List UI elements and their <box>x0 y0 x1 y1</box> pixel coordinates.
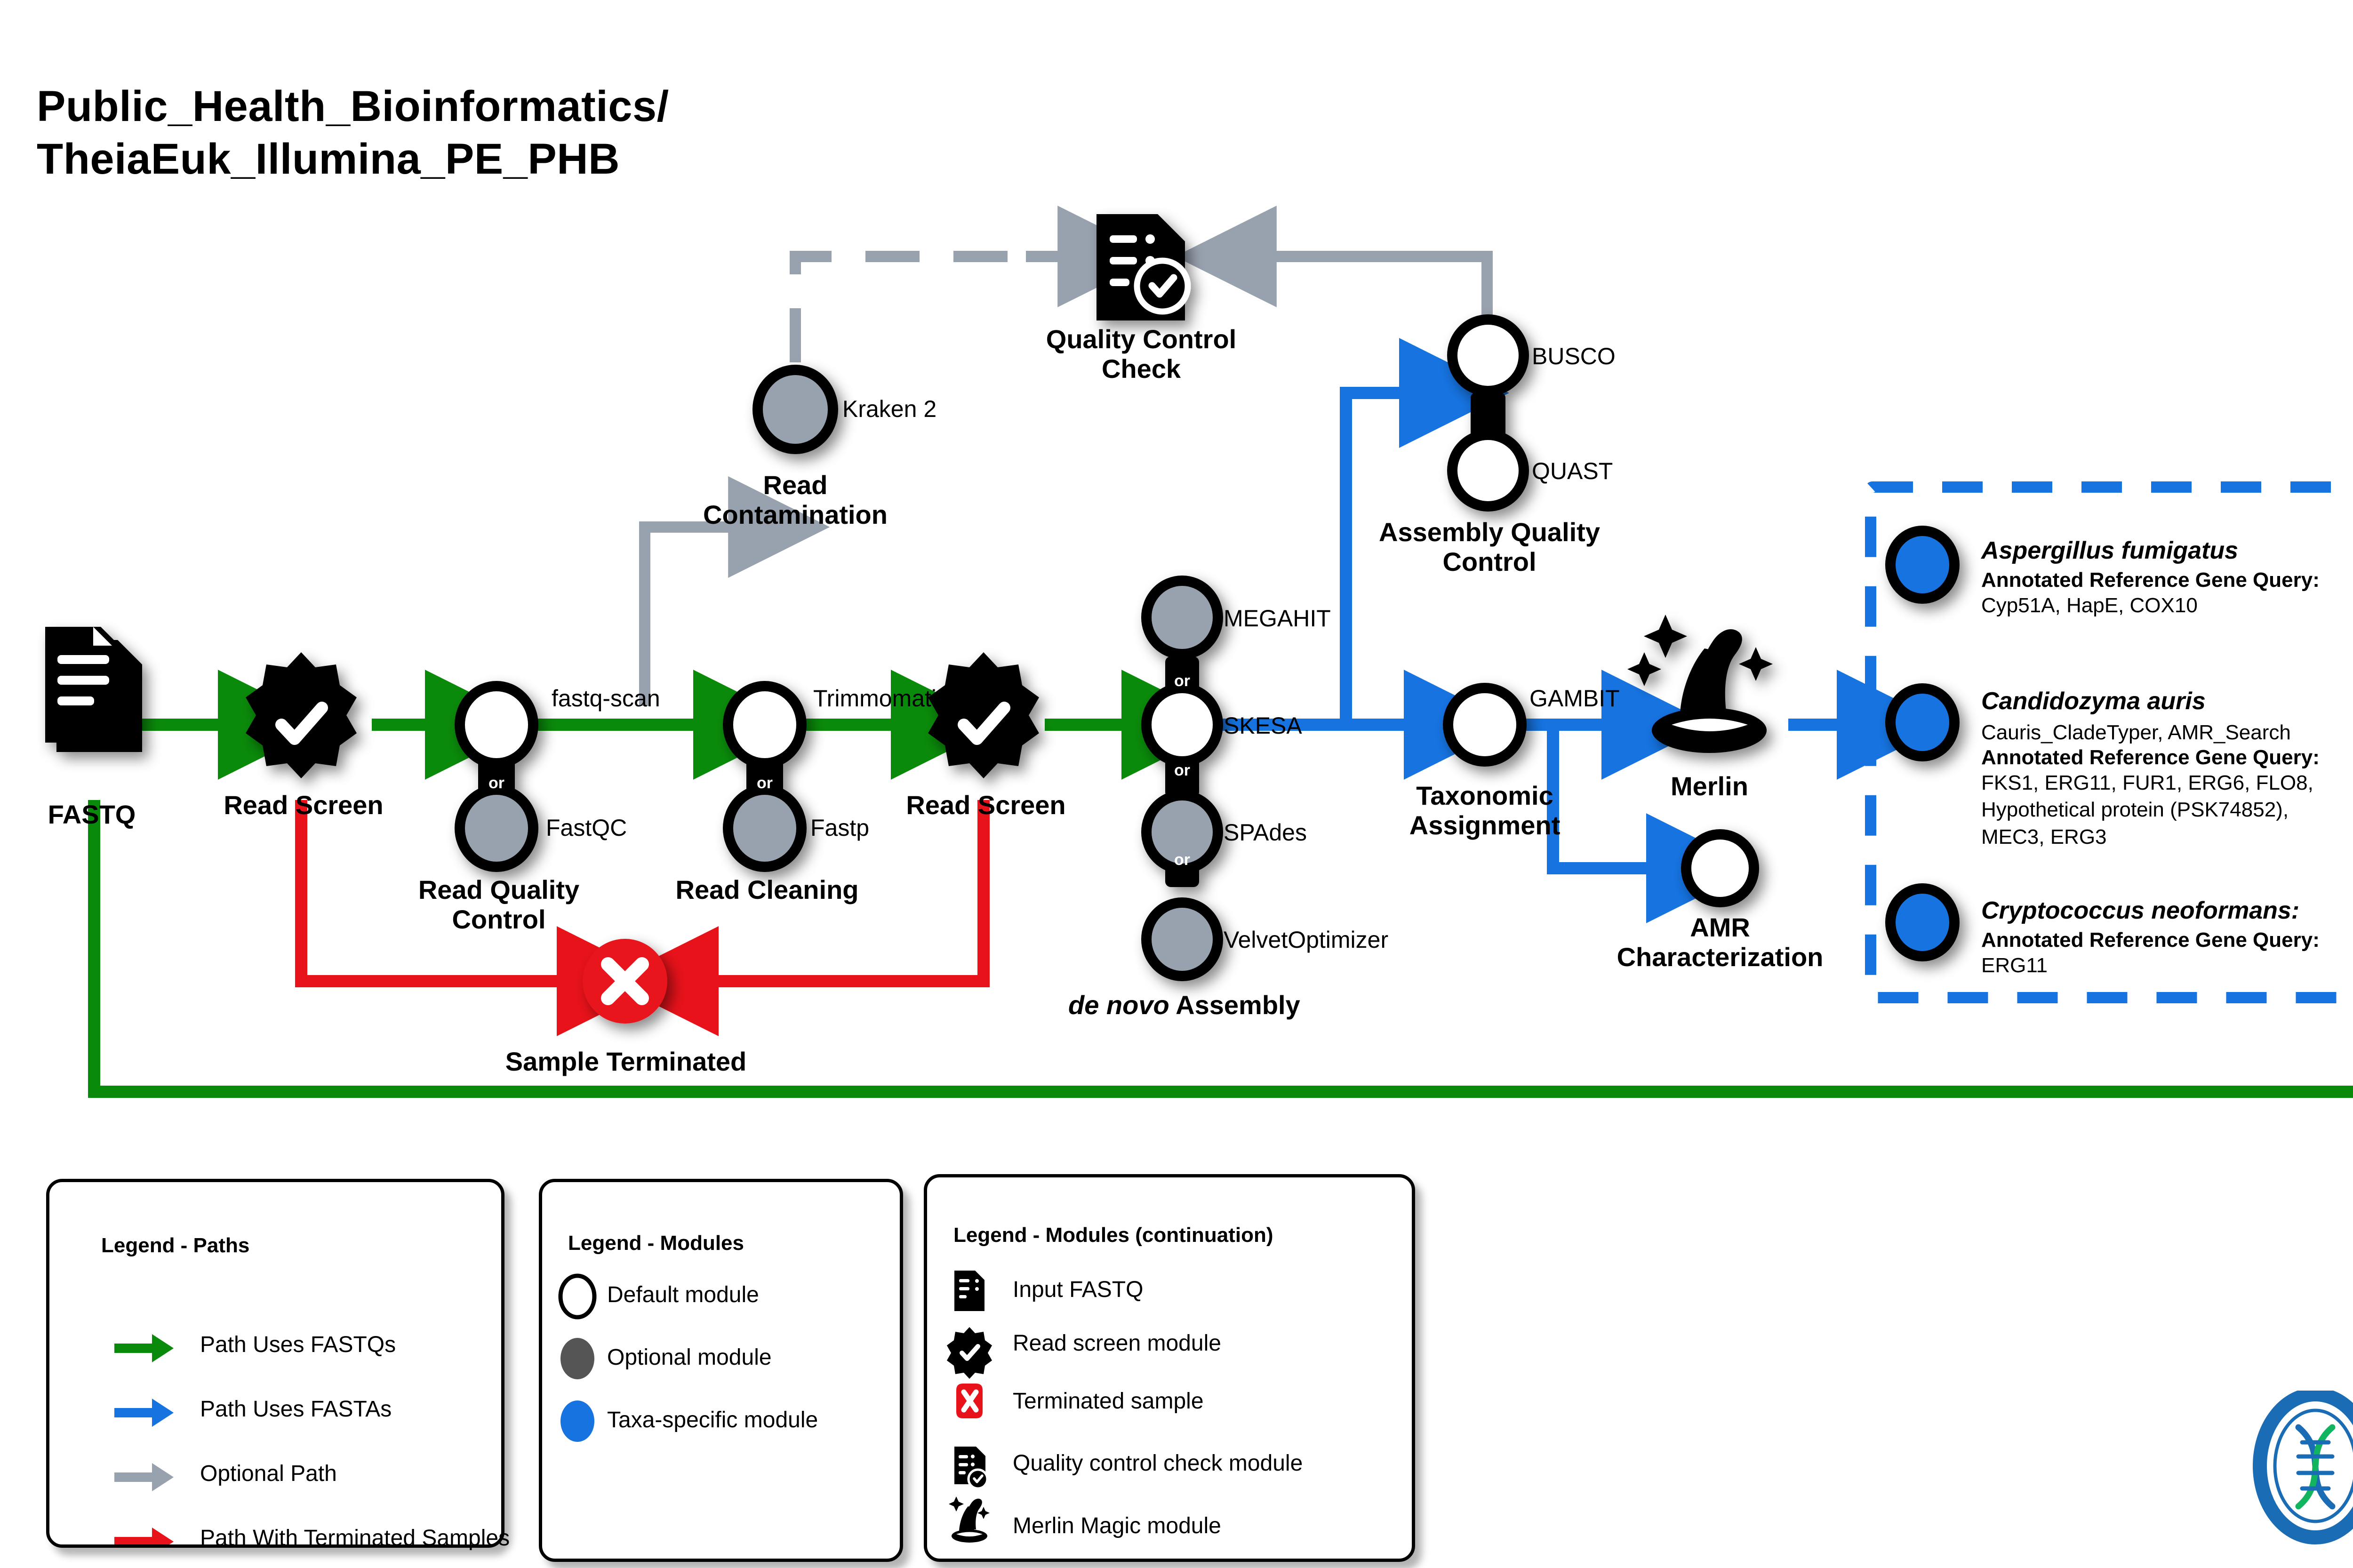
taxa-circle-candidozyma <box>1890 688 1954 756</box>
label-tool-quast: QUAST <box>1532 457 1613 485</box>
taxa-circle-aspergillus <box>1890 531 1954 599</box>
legend-modules-box: Legend - Modules Default module Optional… <box>539 1179 903 1562</box>
label-tool-megahit: MEGAHIT <box>1224 605 1331 632</box>
legend-cont-item-4: Merlin Magic module <box>1013 1513 1221 1539</box>
node-read-cleaning <box>728 686 801 867</box>
taxa-query-label-1: Annotated Reference Gene Query: <box>1981 746 2320 769</box>
page-title-line2: TheiaEuk_Illumina_PE_PHB <box>37 133 669 185</box>
label-amr-l1: AMR <box>1605 913 1835 943</box>
label-tool-kraken2: Kraken 2 <box>842 395 936 423</box>
node-amr-characterization <box>1686 834 1754 902</box>
taxa-entry-candidozyma: Candidozyma auris Cauris_CladeTyper, AMR… <box>1981 687 2320 850</box>
label-amr-characterization: AMR Characterization <box>1605 913 1835 972</box>
legend-module-taxa-circle <box>560 1400 594 1442</box>
node-taxonomic-assignment <box>1448 688 1521 761</box>
wizard-hat-icon-merlin <box>1627 615 1773 753</box>
legend-path-item-3: Path With Terminated Samples <box>200 1525 510 1551</box>
document-check-icon <box>1096 214 1188 320</box>
theiagen-logo: Theia gen ® G E N O M I C S <box>2249 1391 2353 1546</box>
taxa-name-1: Candidozyma auris <box>1981 687 2320 715</box>
taxa-query-label-2: Annotated Reference Gene Query: <box>1981 928 2320 952</box>
label-read-screen-1: Read Screen <box>212 791 395 820</box>
legend-arrow-gray <box>114 1463 174 1491</box>
taxa-tools-1: Cauris_CladeTyper, AMR_Search <box>1981 719 2320 746</box>
logo-dna-mark <box>2260 1394 2353 1537</box>
legend-cont-item-0: Input FASTQ <box>1013 1277 1143 1303</box>
label-edge-trimmomatic: Trimmomatic <box>813 685 948 712</box>
label-read-cleaning: Read Cleaning <box>668 875 866 905</box>
label-de-novo-assembly: de novo Assembly <box>1068 991 1299 1020</box>
legend-cont-item-3: Quality control check module <box>1013 1450 1303 1476</box>
legend-module-item-0: Default module <box>607 1282 759 1308</box>
label-tax-l2: Assignment <box>1379 811 1591 840</box>
taxa-genes-0: Cyp51A, HapE, COX10 <box>1981 592 2320 619</box>
legend-module-item-1: Optional module <box>607 1344 772 1370</box>
legend-paths-box: Legend - Paths Path Uses FASTQs Path Use… <box>46 1179 504 1548</box>
legend-arrow-red <box>114 1528 174 1544</box>
label-merlin: Merlin <box>1628 772 1791 801</box>
label-tool-fastp: Fastp <box>810 814 869 841</box>
edge-assemblyqc-to-qccheck <box>1266 256 1487 329</box>
legend-path-item-1: Path Uses FASTAs <box>200 1396 392 1422</box>
legend-modules-shapes <box>542 1182 900 1559</box>
legend-badge-check-icon <box>947 1327 992 1379</box>
label-amr-l2: Characterization <box>1605 943 1835 972</box>
node-de-novo-assembly <box>1146 581 1218 976</box>
legend-fastq-document-icon <box>954 1271 984 1311</box>
page-title-line1: Public_Health_Bioinformatics/ <box>37 80 669 133</box>
label-tool-busco: BUSCO <box>1532 343 1616 370</box>
taxa-name-2: Cryptococcus neoformans: <box>1981 896 2320 925</box>
label-rqc-l1: Read Quality <box>400 875 598 905</box>
legend-module-optional-circle <box>560 1338 594 1379</box>
label-tool-fastqc: FastQC <box>546 814 627 841</box>
legend-modules-cont-icons <box>927 1177 1412 1559</box>
label-denovo-rest: Assembly <box>1169 990 1300 1020</box>
label-rqc-l2: Control <box>400 905 598 935</box>
legend-path-item-0: Path Uses FASTQs <box>200 1332 396 1358</box>
label-denovo-italic: de novo <box>1068 990 1169 1020</box>
taxa-genes-2: ERG11 <box>1981 952 2320 979</box>
label-aqc-l1: Assembly Quality <box>1377 518 1602 547</box>
legend-wizard-hat-icon <box>949 1496 990 1543</box>
label-tool-velvetoptimizer: VelvetOptimizer <box>1224 926 1388 953</box>
legend-x-square-icon <box>956 1384 983 1418</box>
taxa-entry-cryptococcus: Cryptococcus neoformans: Annotated Refer… <box>1981 896 2320 979</box>
label-assembly-quality-control: Assembly Quality Control <box>1377 518 1602 576</box>
taxa-entry-aspergillus: Aspergillus fumigatus Annotated Referenc… <box>1981 536 2320 619</box>
taxa-query-label-0: Annotated Reference Gene Query: <box>1981 568 2320 592</box>
label-read-contamination: Read Contamination <box>696 471 894 529</box>
taxa-genes-1-l2: Hypothetical protein (PSK74852), <box>1981 796 2320 823</box>
badge-check-icon-readscreen-2 <box>928 652 1039 778</box>
taxa-genes-1-l1: FKS1, ERG11, FUR1, ERG6, FLO8, <box>1981 769 2320 796</box>
label-rcontam-l1: Read <box>696 471 894 500</box>
label-sample-terminated: Sample Terminated <box>489 1047 762 1077</box>
edge-readcontamination-to-qccheck <box>795 256 1042 362</box>
label-read-quality-control: Read Quality Control <box>400 875 598 934</box>
label-edge-fastq-scan: fastq-scan <box>552 685 660 712</box>
label-tool-skesa: SKESA <box>1224 712 1302 739</box>
label-qcc-l1: Quality Control <box>1040 325 1242 354</box>
label-edge-gambit: GAMBIT <box>1529 685 1620 712</box>
legend-document-check-icon <box>954 1447 987 1488</box>
legend-cont-item-1: Read screen module <box>1013 1330 1221 1356</box>
label-read-screen-2: Read Screen <box>894 791 1078 820</box>
node-assembly-quality-control <box>1452 320 1524 506</box>
label-qcc-l2: Check <box>1040 354 1242 384</box>
legend-module-item-2: Taxa-specific module <box>607 1407 818 1433</box>
label-tax-l1: Taxonomic <box>1379 781 1591 811</box>
taxa-genes-1-l3: MEC3, ERG3 <box>1981 824 2320 850</box>
fastq-document-icon <box>45 627 142 752</box>
legend-arrow-blue <box>114 1399 174 1427</box>
page-title: Public_Health_Bioinformatics/ TheiaEuk_I… <box>37 80 669 185</box>
legend-path-item-2: Optional Path <box>200 1461 337 1487</box>
taxa-name-0: Aspergillus fumigatus <box>1981 536 2320 565</box>
legend-module-default-circle <box>560 1276 594 1317</box>
edge-optional-to-readcontamination <box>645 527 753 706</box>
legend-arrow-green <box>114 1334 174 1362</box>
taxa-circle-cryptococcus <box>1890 888 1954 956</box>
badge-check-icon-readscreen-1 <box>246 652 357 778</box>
legend-modules-cont-box: Legend - Modules (continuation) <box>924 1174 1415 1562</box>
x-circle-icon-sample-terminated <box>583 939 667 1024</box>
label-quality-control-check: Quality Control Check <box>1040 325 1242 384</box>
legend-cont-item-2: Terminated sample <box>1013 1388 1204 1414</box>
node-read-contamination <box>758 370 833 449</box>
legend-paths-arrows <box>49 1182 501 1544</box>
label-aqc-l2: Control <box>1377 547 1602 577</box>
label-taxonomic-assignment: Taxonomic Assignment <box>1379 781 1591 840</box>
label-fastq: FASTQ <box>42 800 141 830</box>
node-read-quality-control <box>460 686 533 867</box>
label-tool-spades: SPAdes <box>1224 819 1307 846</box>
label-rcontam-l2: Contamination <box>696 500 894 530</box>
